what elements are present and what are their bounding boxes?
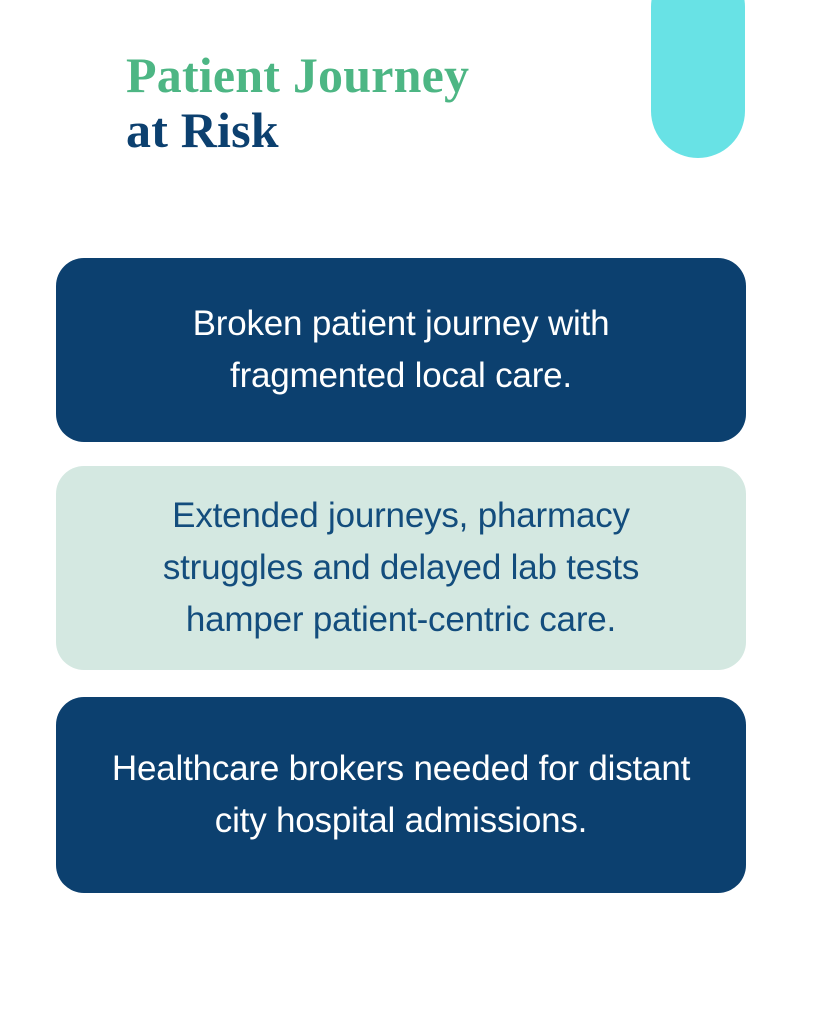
statement-card-text: Healthcare brokers needed for distant ci… (84, 743, 718, 847)
page-title-line-2: at Risk (126, 103, 646, 158)
statement-card-extended-journeys: Extended journeys, pharmacy struggles an… (56, 466, 746, 670)
statement-card-broken-journey: Broken patient journey with fragmented l… (56, 258, 746, 442)
statement-card-text: Broken patient journey with fragmented l… (131, 298, 671, 402)
page-title: Patient Journey at Risk (126, 48, 646, 158)
statement-card-list: Broken patient journey with fragmented l… (56, 258, 746, 893)
page-title-line-1: Patient Journey (126, 48, 646, 103)
poster-canvas: Patient Journey at Risk Broken patient j… (0, 0, 828, 1017)
statement-card-healthcare-brokers: Healthcare brokers needed for distant ci… (56, 697, 746, 893)
statement-card-text: Extended journeys, pharmacy struggles an… (101, 490, 701, 646)
cyan-rounded-pill-icon (651, 0, 745, 158)
